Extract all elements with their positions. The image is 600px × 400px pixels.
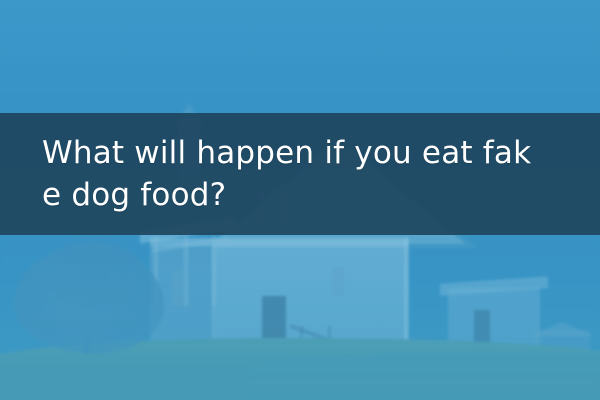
side-window: [172, 270, 186, 306]
tree-canopy-highlight: [44, 236, 142, 308]
porch-post: [212, 236, 216, 306]
caption-banner: What will happen if you eat fak e dog fo…: [0, 113, 600, 235]
front-window: [332, 266, 344, 296]
caption-text: What will happen if you eat fak e dog fo…: [42, 132, 531, 216]
grass-field-far: [250, 352, 600, 400]
image-card: What will happen if you eat fak e dog fo…: [0, 0, 600, 400]
